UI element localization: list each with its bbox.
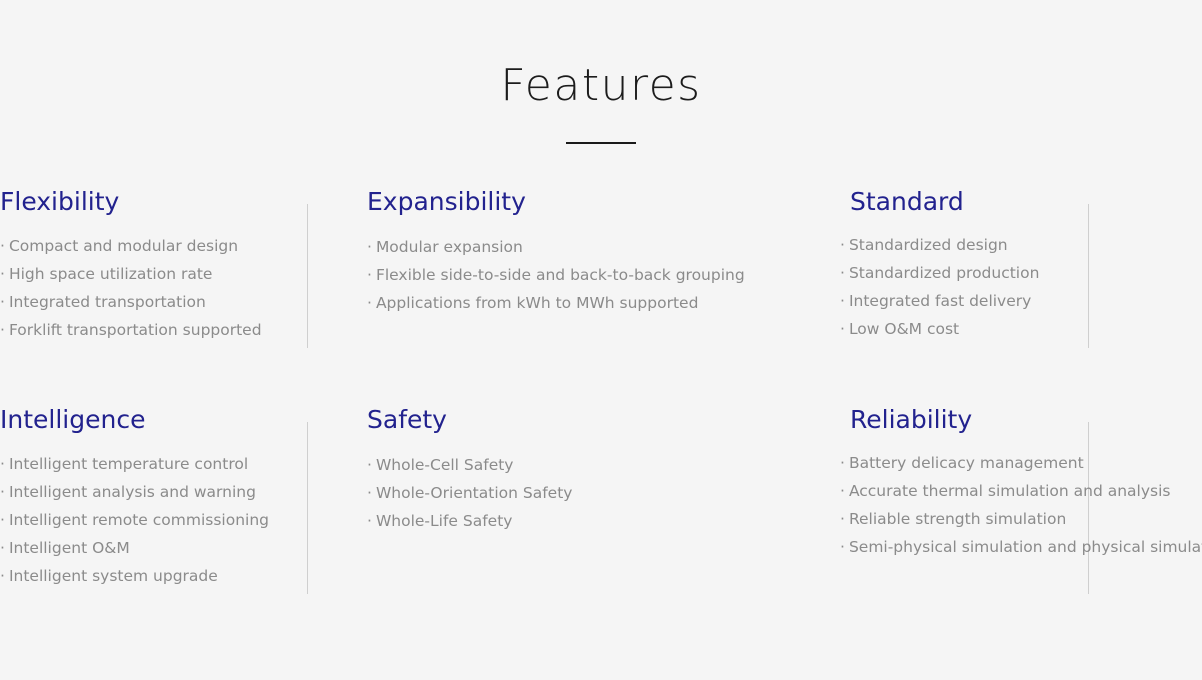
bullet-dot-icon: · [367,261,372,289]
bullet-dot-icon: · [367,479,372,507]
bullet-dot-icon: · [0,232,5,260]
list-item-label: Whole-Orientation Safety [376,479,573,507]
bullet-dot-icon: · [0,260,5,288]
page-title: Features [0,62,1202,110]
bullet-dot-icon: · [840,231,845,259]
list-item-label: Low O&M cost [849,315,959,343]
column-heading: Reliability [840,406,1202,435]
feature-list: · Modular expansion · Flexible side-to-s… [367,233,781,317]
list-item-label: Accurate thermal simulation and analysis [849,477,1171,505]
column-heading: Intelligence [0,406,307,435]
list-item: · Intelligent O&M [0,534,307,562]
list-item: · Integrated transportation [0,288,307,316]
bullet-dot-icon: · [0,288,5,316]
column-heading: Flexibility [0,188,307,217]
feature-row: Flexibility · Compact and modular design… [0,188,1202,406]
list-item: · Standardized production [840,259,1202,287]
list-item-label: Applications from kWh to MWh supported [376,289,698,317]
bullet-dot-icon: · [0,562,5,590]
list-item-label: Semi-physical simulation and physical si… [849,533,1202,561]
list-item: · Accurate thermal simulation and analys… [840,477,1202,505]
list-item-label: Intelligent analysis and warning [9,478,256,506]
list-item: · Low O&M cost [840,315,1202,343]
feature-column-intelligence: Intelligence · Intelligent temperature c… [0,406,307,590]
list-item-label: Flexible side-to-side and back-to-back g… [376,261,745,289]
list-item-label: Standardized production [849,259,1040,287]
list-item-label: Battery delicacy management [849,449,1084,477]
feature-list: · Compact and modular design · High spac… [0,232,307,344]
list-item: · Whole-Life Safety [367,507,781,535]
bullet-dot-icon: · [0,450,5,478]
list-item: · High space utilization rate [0,260,307,288]
list-item: · Whole-Cell Safety [367,451,781,479]
list-item-label: Modular expansion [376,233,523,261]
list-item: · Standardized design [840,231,1202,259]
bullet-dot-icon: · [840,533,845,561]
list-item: · Flexible side-to-side and back-to-back… [367,261,781,289]
feature-list: · Standardized design · Standardized pro… [840,231,1202,343]
list-item-label: Standardized design [849,231,1008,259]
list-item: · Integrated fast delivery [840,287,1202,315]
bullet-dot-icon: · [840,287,845,315]
feature-list: · Intelligent temperature control · Inte… [0,450,307,590]
list-item: · Intelligent analysis and warning [0,478,307,506]
bullet-dot-icon: · [0,478,5,506]
list-item-label: Intelligent temperature control [9,450,248,478]
list-item-label: Intelligent O&M [9,534,130,562]
column-heading: Standard [840,188,1202,217]
list-item: · Compact and modular design [0,232,307,260]
list-item: · Intelligent remote commissioning [0,506,307,534]
list-item: · Battery delicacy management [840,449,1202,477]
feature-column-expansibility: Expansibility · Modular expansion · Flex… [307,188,781,317]
bullet-dot-icon: · [367,233,372,261]
list-item-label: Whole-Cell Safety [376,451,514,479]
bullet-dot-icon: · [367,507,372,535]
list-item-label: Reliable strength simulation [849,505,1066,533]
feature-row: Intelligence · Intelligent temperature c… [0,406,1202,624]
bullet-dot-icon: · [367,451,372,479]
bullet-dot-icon: · [840,477,845,505]
feature-column-reliability: Reliability · Battery delicacy managemen… [781,406,1202,561]
list-item-label: Integrated transportation [9,288,206,316]
list-item: · Whole-Orientation Safety [367,479,781,507]
bullet-dot-icon: · [0,506,5,534]
feature-column-flexibility: Flexibility · Compact and modular design… [0,188,307,344]
list-item-label: Whole-Life Safety [376,507,513,535]
bullet-dot-icon: · [840,449,845,477]
bullet-dot-icon: · [840,505,845,533]
bullet-dot-icon: · [0,316,5,344]
list-item-label: Intelligent remote commissioning [9,506,269,534]
column-heading: Expansibility [367,188,781,217]
list-item: · Forklift transportation supported [0,316,307,344]
list-item: · Applications from kWh to MWh supported [367,289,781,317]
list-item: · Intelligent system upgrade [0,562,307,590]
column-heading: Safety [367,406,781,435]
list-item-label: Compact and modular design [9,232,238,260]
list-item-label: Forklift transportation supported [9,316,262,344]
feature-column-standard: Standard · Standardized design · Standar… [781,188,1202,343]
feature-list: · Whole-Cell Safety · Whole-Orientation … [367,451,781,535]
list-item-label: Integrated fast delivery [849,287,1031,315]
list-item: · Intelligent temperature control [0,450,307,478]
bullet-dot-icon: · [840,315,845,343]
list-item: · Modular expansion [367,233,781,261]
features-grid: Flexibility · Compact and modular design… [0,188,1202,624]
bullet-dot-icon: · [840,259,845,287]
list-item-label: Intelligent system upgrade [9,562,218,590]
list-item-label: High space utilization rate [9,260,213,288]
bullet-dot-icon: · [0,534,5,562]
feature-column-safety: Safety · Whole-Cell Safety · Whole-Orien… [307,406,781,535]
page-header: Features [0,0,1202,144]
title-underline-rule [566,142,636,144]
feature-list: · Battery delicacy management · Accurate… [840,449,1202,561]
list-item: · Semi-physical simulation and physical … [840,533,1202,561]
list-item: · Reliable strength simulation [840,505,1202,533]
bullet-dot-icon: · [367,289,372,317]
